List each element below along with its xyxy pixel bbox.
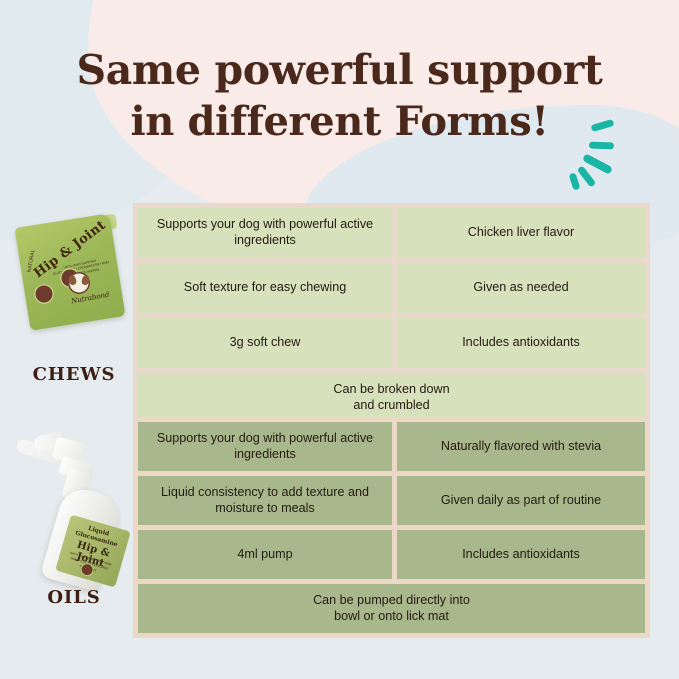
table-cell: Supports your dog with powerful active i… xyxy=(138,208,392,258)
table-cell: Liquid consistency to add texture and mo… xyxy=(138,476,392,525)
table-row: 4ml pump Includes antioxidants xyxy=(138,530,645,579)
table-cell: Includes antioxidants xyxy=(397,318,645,368)
infographic-canvas: Same powerful support in different Forms… xyxy=(0,0,679,679)
page-title-line-1: Same powerful support xyxy=(0,44,679,96)
table-row-footer: Can be broken downand crumbled xyxy=(138,373,645,423)
section-label-chews: CHEWS xyxy=(16,364,132,385)
table-cell-fullwidth: Can be pumped directly intobowl or onto … xyxy=(138,584,645,633)
table-cell: Supports your dog with powerful active i… xyxy=(138,422,392,471)
sparkle-dash-2 xyxy=(589,142,614,150)
pouch-seal-badge-2 xyxy=(34,284,54,304)
table-cell: Soft texture for easy chewing xyxy=(138,263,392,313)
table-cell: Chicken liver flavor xyxy=(397,208,645,258)
table-cell: 3g soft chew xyxy=(138,318,392,368)
sparkle-dash-1 xyxy=(590,119,614,132)
sparkle-dash-4 xyxy=(577,165,597,187)
table-cell: Includes antioxidants xyxy=(397,530,645,579)
table-cell: 4ml pump xyxy=(138,530,392,579)
table-row: Soft texture for easy chewing Given as n… xyxy=(138,263,645,313)
table-row: Supports your dog with powerful active i… xyxy=(138,208,645,258)
section-label-oils: OILS xyxy=(16,587,132,608)
product-image-oils-bottle: Liquid Glucosamine Hip & Joint WITH CHON… xyxy=(10,418,130,588)
sparkle-dash-5 xyxy=(569,172,581,190)
table-cell: Given daily as part of routine xyxy=(397,476,645,525)
comparison-table-chews: Supports your dog with powerful active i… xyxy=(133,203,650,428)
table-row-footer: Can be pumped directly intobowl or onto … xyxy=(138,584,645,633)
table-cell-fullwidth: Can be broken downand crumbled xyxy=(138,373,645,423)
table-row: Supports your dog with powerful active i… xyxy=(138,422,645,471)
table-row: Liquid consistency to add texture and mo… xyxy=(138,476,645,525)
table-row: 3g soft chew Includes antioxidants xyxy=(138,318,645,368)
product-image-chews-pouch: NATURAL Hip & Joint HIP & JOINT SUPPORTG… xyxy=(16,212,124,332)
sparkle-icon xyxy=(566,112,632,198)
dog-face-icon xyxy=(68,272,90,294)
comparison-table-oils: Supports your dog with powerful active i… xyxy=(133,417,650,638)
table-cell: Naturally flavored with stevia xyxy=(397,422,645,471)
table-cell: Given as needed xyxy=(397,263,645,313)
